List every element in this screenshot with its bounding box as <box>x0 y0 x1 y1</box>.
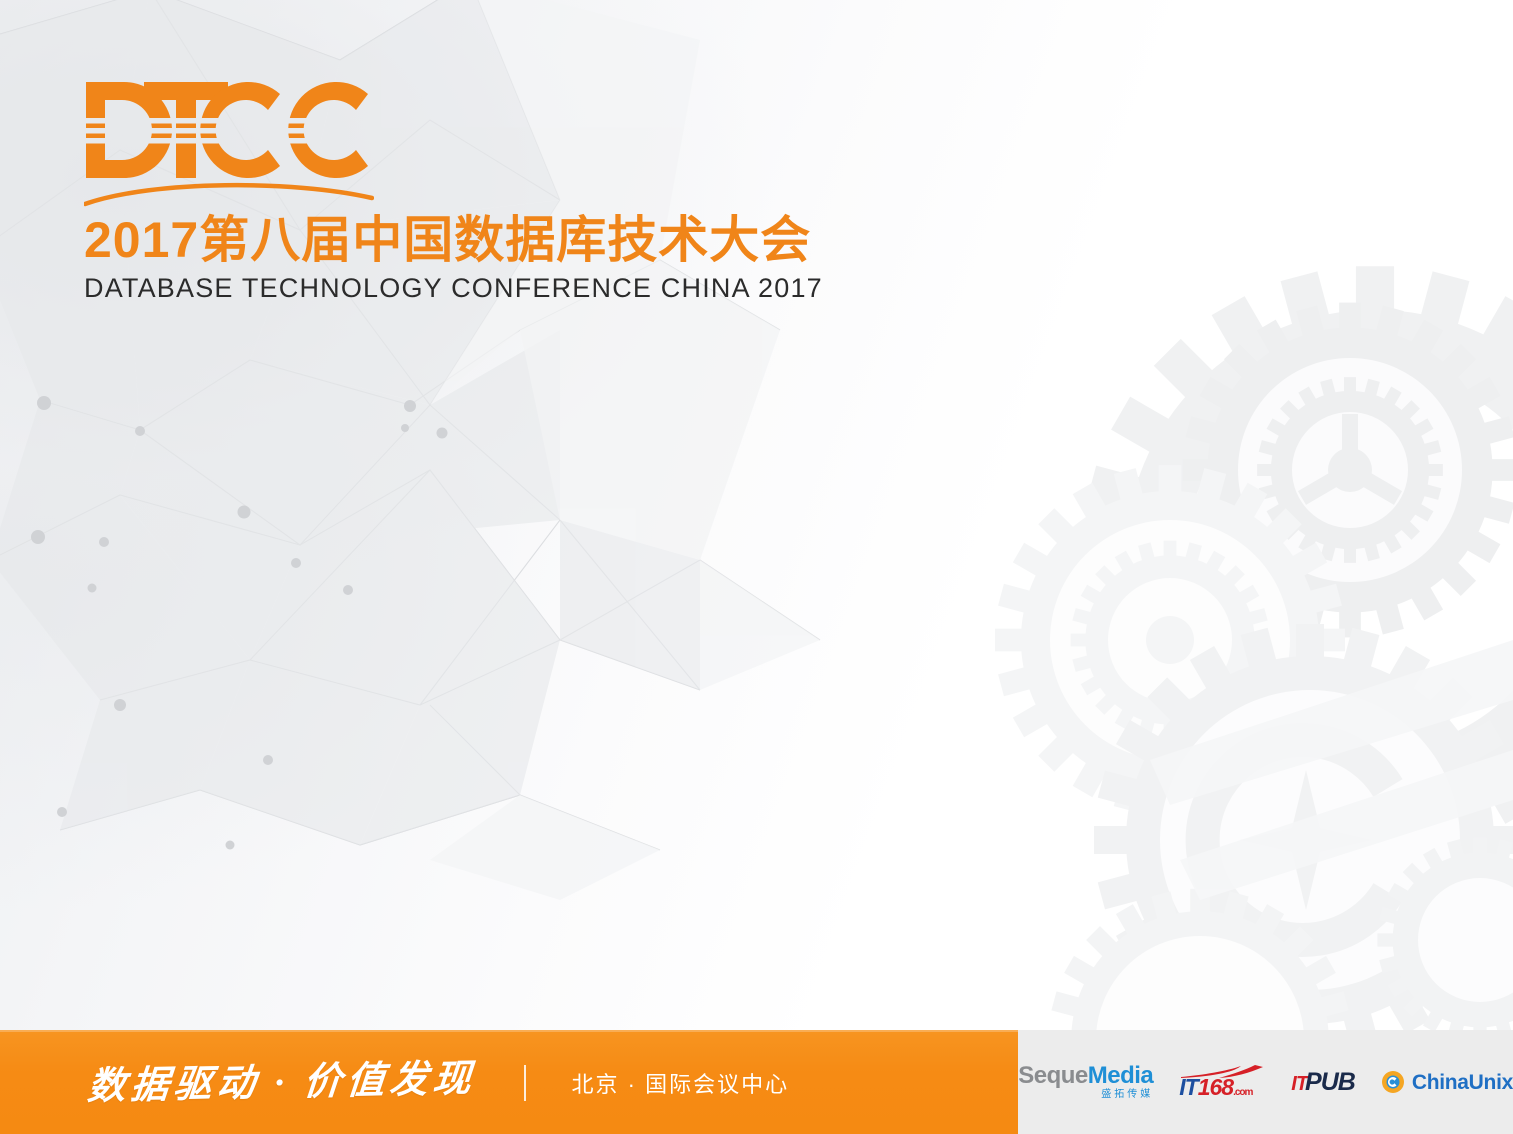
sponsor-logo-itpub: IT PUB <box>1291 1059 1355 1105</box>
dtcc-wordmark <box>84 78 374 186</box>
it168-part2: 168 <box>1198 1074 1233 1100</box>
footer-orange-band: 数据驱动 · 价值发现 北京 · 国际会议中心 <box>0 1030 1018 1134</box>
sequemedia-subtitle: 盛拓传媒 <box>1101 1090 1153 1100</box>
sponsor-logo-strip: SequeMedia 盛拓传媒 IT168.com <box>1018 1030 1513 1134</box>
footer-divider <box>524 1065 526 1101</box>
dtcc-swoosh-arc <box>84 182 374 208</box>
slide-canvas: 2017第八届中国数据库技术大会 DATABASE TECHNOLOGY CON… <box>0 0 1513 1134</box>
conference-title-english: DATABASE TECHNOLOGY CONFERENCE CHINA 201… <box>84 273 784 304</box>
it168-suffix: .com <box>1233 1087 1252 1098</box>
conference-logo-block: 2017第八届中国数据库技术大会 DATABASE TECHNOLOGY CON… <box>84 78 784 304</box>
sponsor-logo-chinaunix: ChinaUnix <box>1381 1059 1513 1105</box>
slide-content-area <box>84 330 1429 990</box>
conference-title-chinese: 2017第八届中国数据库技术大会 <box>84 214 784 267</box>
footer-venue: 北京 · 国际会议中心 <box>572 1067 790 1099</box>
it168-part1: IT <box>1179 1074 1197 1100</box>
footer-slogan: 数据驱动 · 价值发现 <box>86 1060 477 1106</box>
sponsor-logo-sequemedia: SequeMedia 盛拓传媒 <box>1018 1059 1153 1105</box>
itpub-part2: PUB <box>1305 1070 1355 1095</box>
chinaunix-label: ChinaUnix <box>1412 1072 1513 1093</box>
sequemedia-part1: Seque <box>1018 1062 1088 1089</box>
chinaunix-circle-icon <box>1381 1070 1405 1094</box>
sequemedia-part2: Media <box>1088 1062 1154 1089</box>
sponsor-logo-it168: IT168.com <box>1179 1059 1265 1105</box>
footer-bar: 数据驱动 · 价值发现 北京 · 国际会议中心 SequeMedia 盛拓传媒 <box>0 1030 1513 1134</box>
